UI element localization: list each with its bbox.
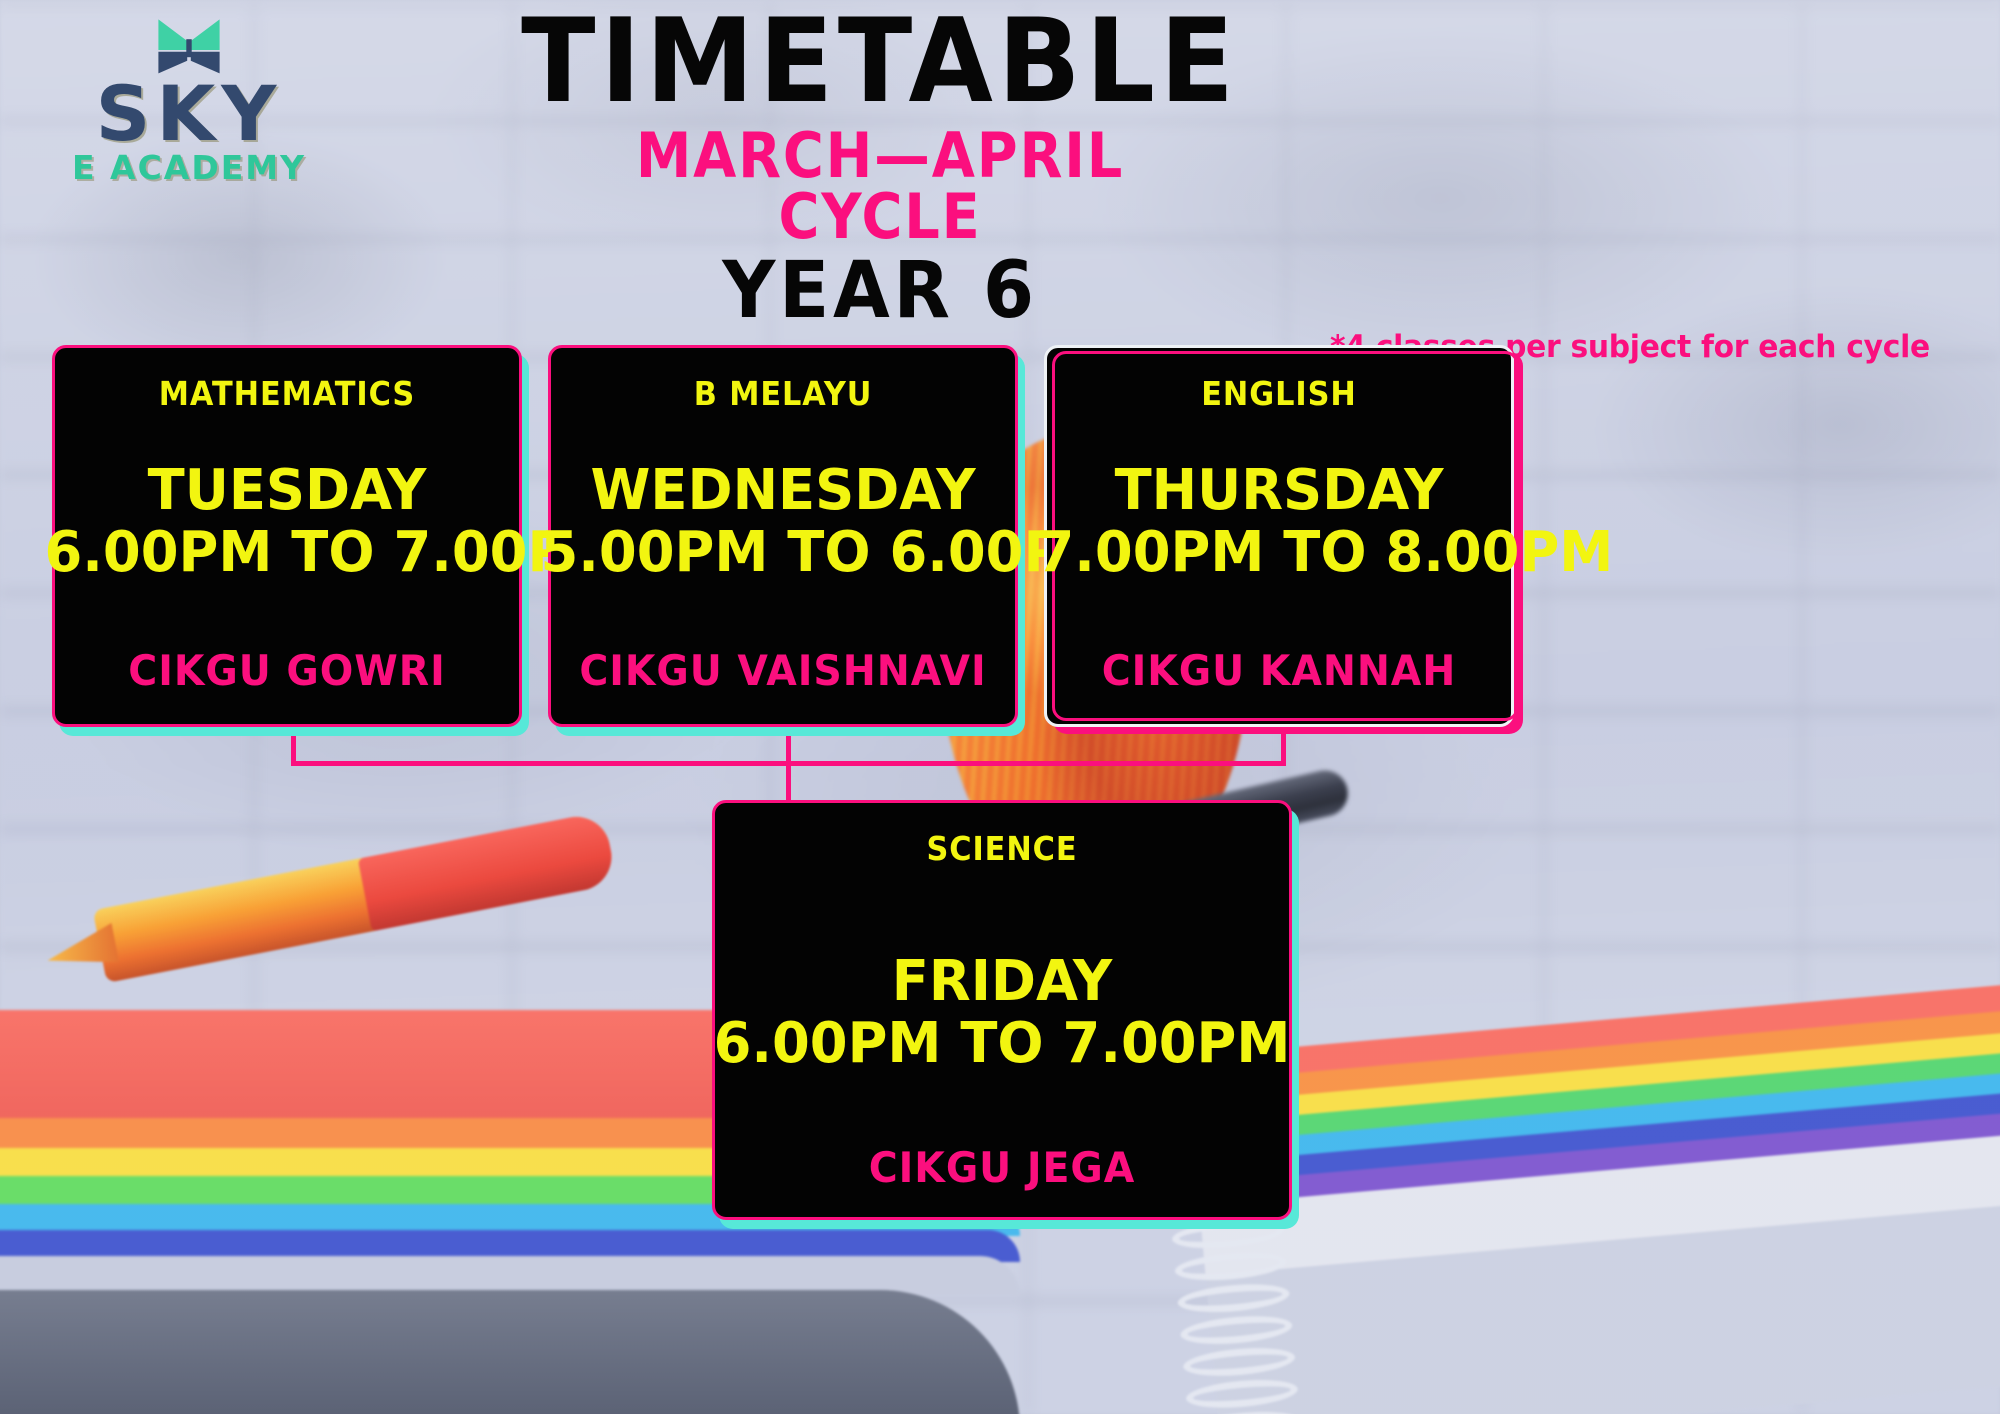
card-time-label: 6.00PM TO 7.00PM: [45, 522, 530, 584]
page-title: TIMETABLE: [457, 4, 1303, 120]
card-day-label: FRIDAY: [706, 951, 1298, 1013]
cycle-label-line2: CYCLE: [475, 186, 1285, 248]
connector-vertical-bmelayu: [786, 727, 791, 765]
card-schedule: FRIDAY 6.00PM TO 7.00PM: [706, 951, 1298, 1075]
card-subject-label: MATHEMATICS: [74, 376, 501, 412]
card-schedule: TUESDAY 6.00PM TO 7.00PM: [45, 460, 530, 584]
card-schedule: THURSDAY 7.00PM TO 8.00PM: [1037, 460, 1522, 584]
brand-tagline: E ACADEMY: [44, 148, 334, 188]
card-subject-label: SCIENCE: [738, 831, 1266, 867]
card-teacher-label: CIKGU GOWRI: [69, 648, 505, 694]
card-subject-label: ENGLISH: [1066, 376, 1493, 412]
connector-vertical-english: [1281, 727, 1286, 765]
connector-vertical-science: [786, 761, 791, 801]
card-subject-label: B MELAYU: [570, 376, 997, 412]
class-card-science[interactable]: SCIENCE FRIDAY 6.00PM TO 7.00PM CIKGU JE…: [712, 800, 1292, 1220]
card-day-label: TUESDAY: [45, 460, 530, 522]
card-day-label: WEDNESDAY: [541, 460, 1026, 522]
card-time-label: 7.00PM TO 8.00PM: [1037, 522, 1522, 584]
class-card-mathematics[interactable]: MATHEMATICS TUESDAY 6.00PM TO 7.00PM CIK…: [52, 345, 522, 727]
header-title-block: TIMETABLE MARCH—APRIL CYCLE YEAR 6: [430, 4, 1330, 332]
card-teacher-label: CIKGU VAISHNAVI: [565, 648, 1001, 694]
card-teacher-label: CIKGU JEGA: [732, 1145, 1272, 1191]
class-card-b-melayu[interactable]: B MELAYU WEDNESDAY 5.00PM TO 6.00PM CIKG…: [548, 345, 1018, 727]
brand-name: SKY: [44, 82, 334, 146]
cycle-label-line1: MARCH—APRIL: [475, 126, 1285, 186]
card-schedule: WEDNESDAY 5.00PM TO 6.00PM: [541, 460, 1026, 584]
connector-vertical-math: [291, 727, 296, 765]
class-card-english[interactable]: ENGLISH THURSDAY 7.00PM TO 8.00PM CIKGU …: [1044, 345, 1514, 727]
card-day-label: THURSDAY: [1037, 460, 1522, 522]
brand-logo[interactable]: SKY E ACADEMY: [44, 14, 334, 188]
card-time-label: 5.00PM TO 6.00PM: [541, 522, 1026, 584]
card-teacher-label: CIKGU KANNAH: [1061, 648, 1497, 694]
year-label: YEAR 6: [457, 250, 1303, 332]
card-time-label: 6.00PM TO 7.00PM: [706, 1013, 1298, 1075]
